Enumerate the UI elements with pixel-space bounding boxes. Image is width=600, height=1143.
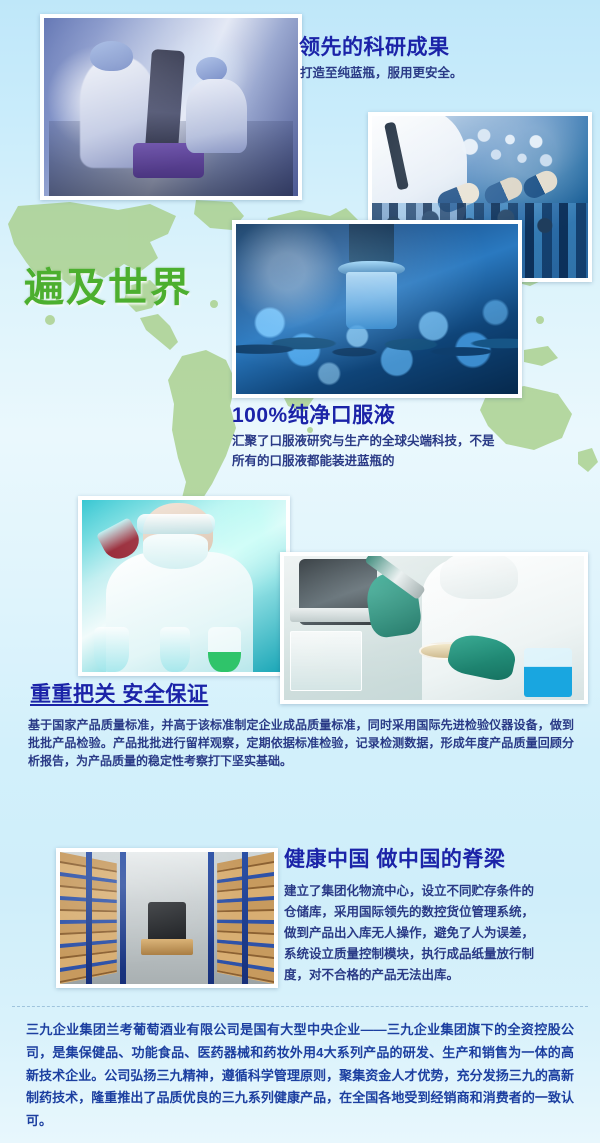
oral-liquid-heading: 100%纯净口服液: [232, 404, 395, 428]
health-china-heading: 健康中国 做中国的脊梁: [284, 848, 505, 872]
health-china-body-line5: 度，对不合格的产品无法出库。: [284, 966, 584, 985]
footer-company-description: 三九企业集团兰考葡萄酒业有限公司是国有大型中央企业——三九企业集团旗下的全资控股…: [26, 1019, 574, 1133]
health-china-body-line3: 做到产品出入库无人操作，避免了人为误差，: [284, 924, 584, 943]
oral-liquid-photo: [232, 220, 522, 398]
research-lab-photo: [40, 14, 302, 200]
health-china-body-line4: 系统设立质量控制模块，执行成品纸量放行制: [284, 945, 584, 964]
world-heading: 遍及世界: [24, 255, 192, 313]
product-detail-page: 领先的科研成果 打造至纯蓝瓶，服用更安全。 遍及世界 100%纯净口服液 汇聚了…: [0, 0, 600, 1143]
petri-dish-photo: [280, 552, 588, 704]
oral-liquid-body-line2: 所有的口服液都能装进蓝瓶的: [232, 452, 578, 471]
footer-company-info: 三九企业集团兰考葡萄酒业有限公司是国有大型中央企业——三九企业集团旗下的全资控股…: [12, 1006, 588, 1143]
research-heading: 领先的科研成果: [299, 36, 450, 60]
quality-heading: 重重把关 安全保证: [30, 683, 208, 707]
research-subtitle: 打造至纯蓝瓶，服用更安全。: [300, 64, 463, 83]
quality-body: 基于国家产品质量标准，并高于该标准制定企业成品质量标准，同时采用国际先进检验仪器…: [28, 716, 574, 771]
warehouse-photo: [56, 848, 278, 988]
oral-liquid-body-line1: 汇聚了口服液研究与生产的全球尖端科技，不是: [232, 432, 578, 451]
health-china-body-line2: 仓储库，采用国际领先的数控货位管理系统，: [284, 903, 584, 922]
health-china-body-line1: 建立了集团化物流中心，设立不同贮存条件的: [284, 882, 584, 901]
chemist-flask-photo: [78, 496, 290, 676]
